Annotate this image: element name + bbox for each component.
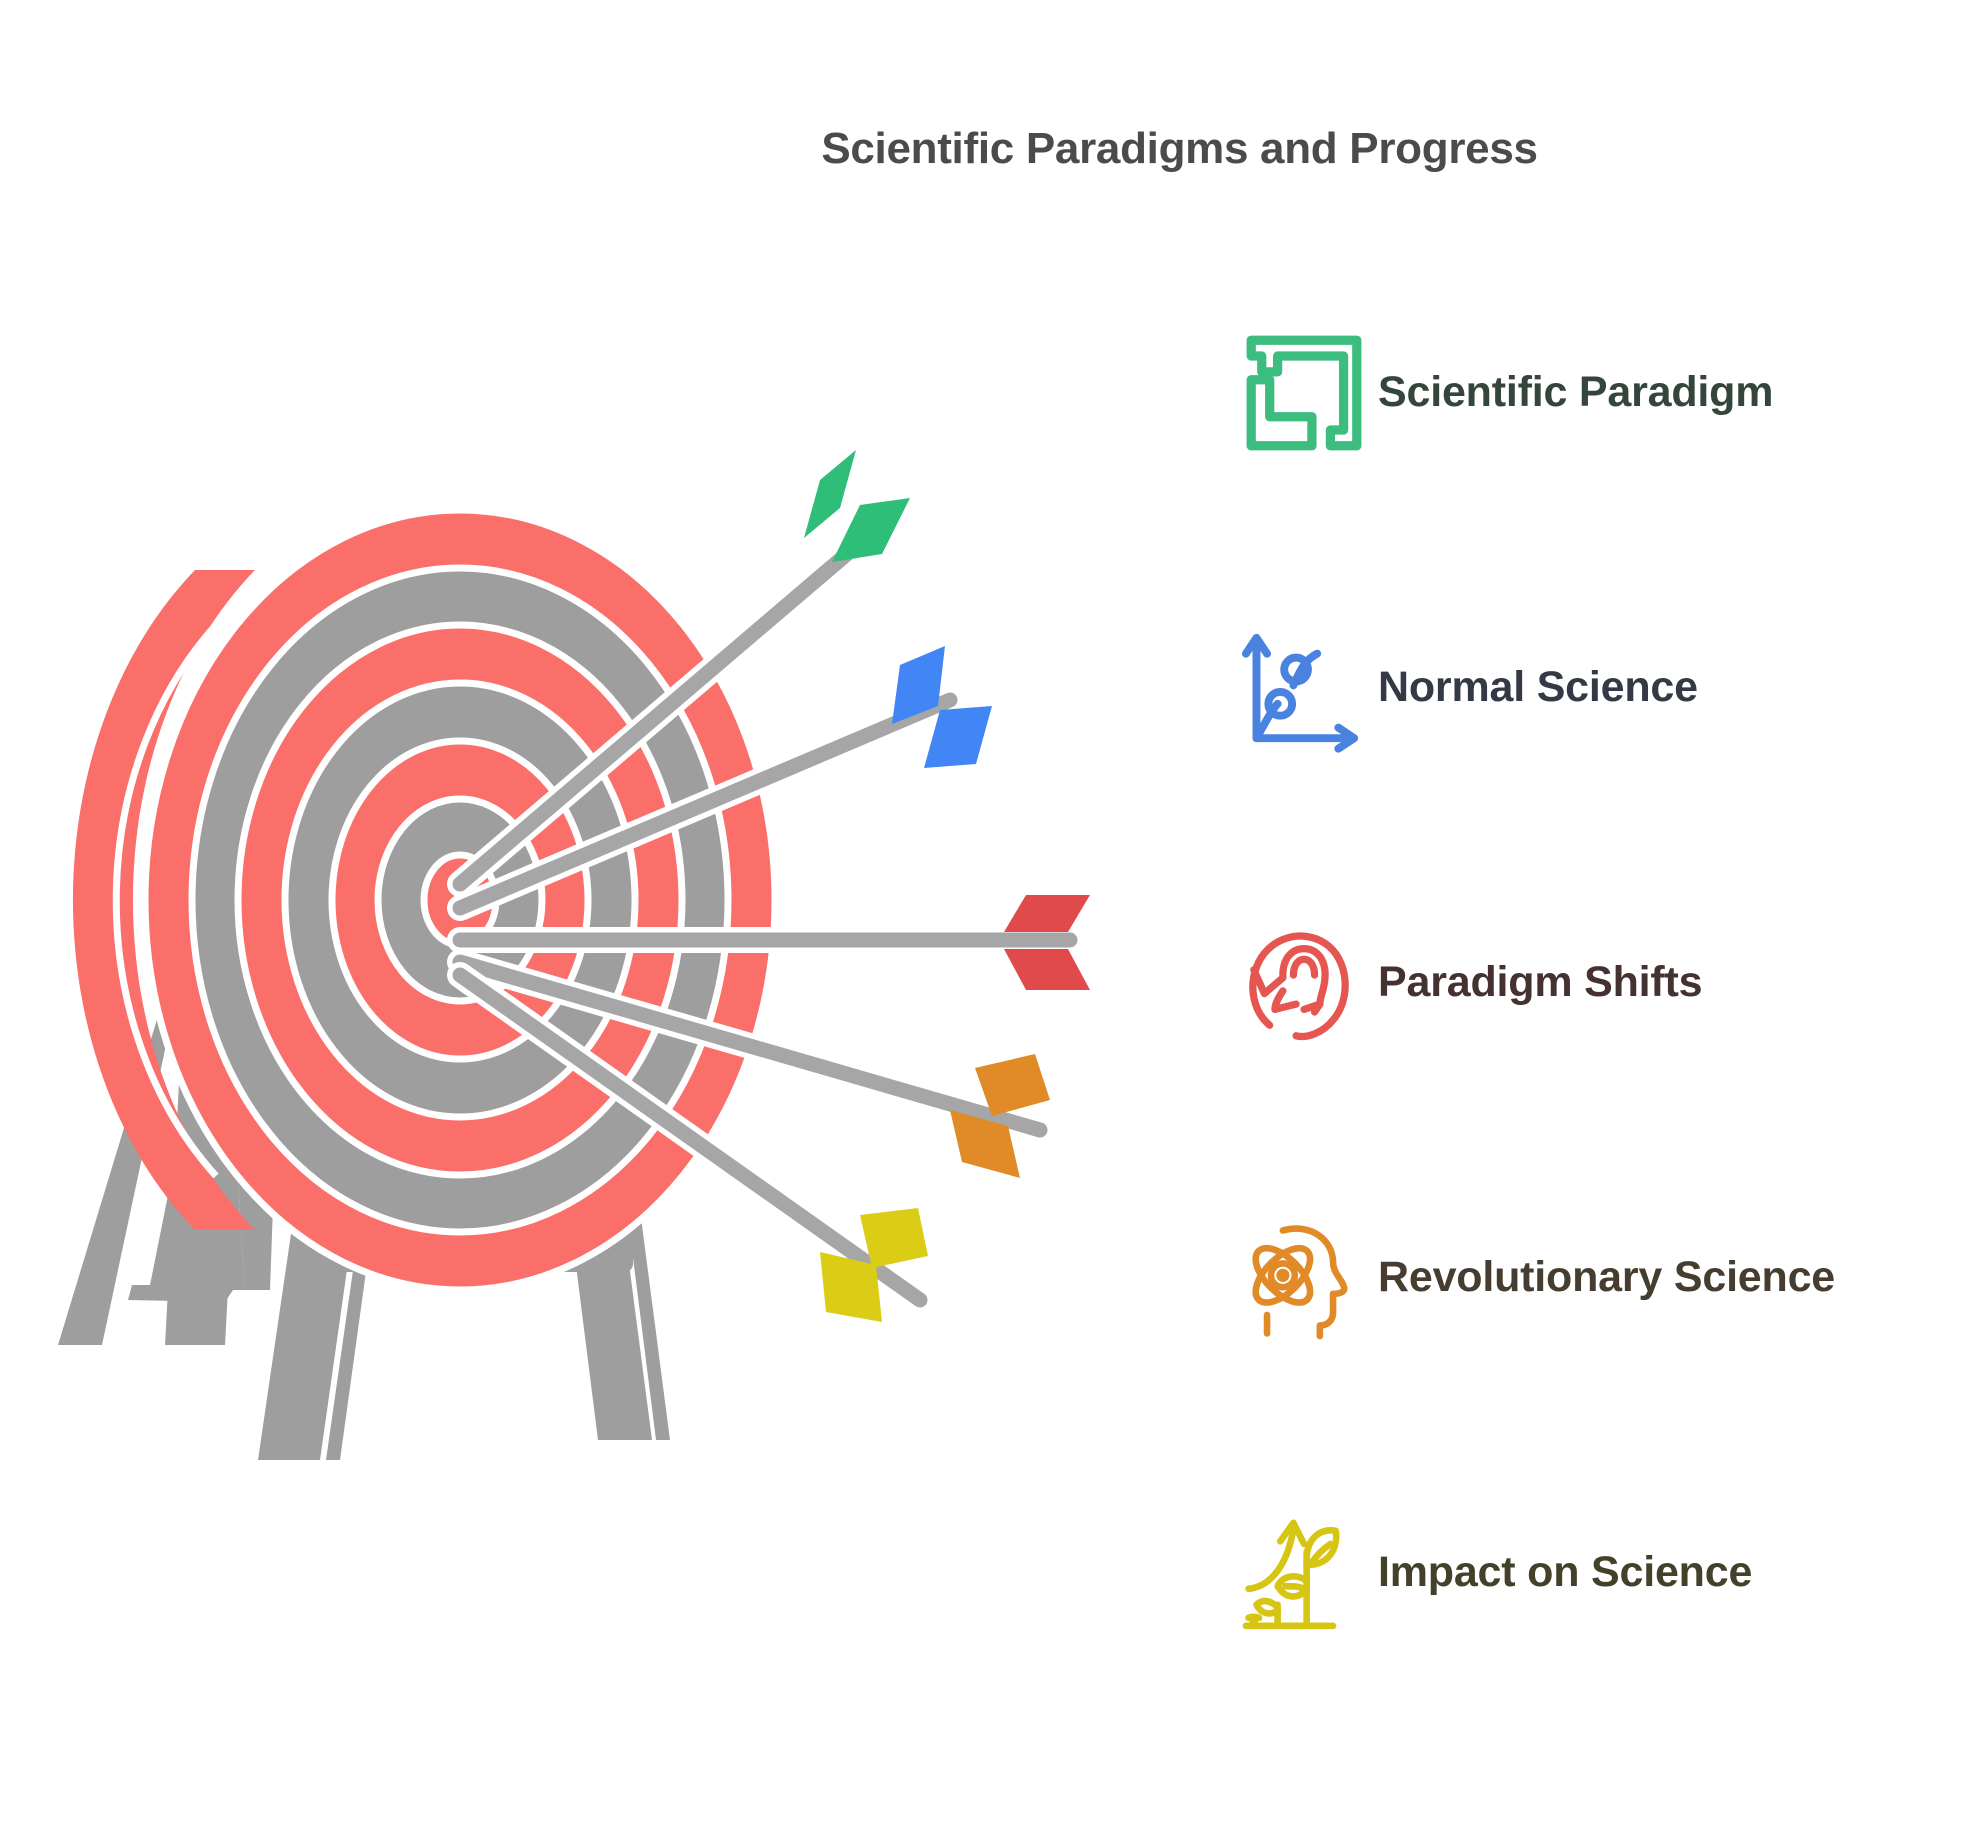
target-board <box>73 510 775 1290</box>
legend-label: Revolutionary Science <box>1378 1253 1835 1302</box>
legend-item-scientific-paradigm[interactable]: Scientific Paradigm <box>1230 245 1950 540</box>
growing-plant-arrow-icon <box>1230 1499 1378 1647</box>
legend-item-normal-science[interactable]: Normal Science <box>1230 540 1950 835</box>
legend-item-paradigm-shifts[interactable]: Paradigm Shifts <box>1230 835 1950 1130</box>
head-atom-icon <box>1230 1204 1378 1352</box>
legend-label: Impact on Science <box>1378 1548 1752 1597</box>
legend-item-revolutionary-science[interactable]: Revolutionary Science <box>1230 1130 1950 1425</box>
line-chart-axes-icon <box>1230 614 1378 762</box>
page-title: Scientific Paradigms and Progress <box>0 124 1969 174</box>
legend-label: Normal Science <box>1378 663 1698 712</box>
legend-list: Scientific Paradigm <box>1230 245 1950 1720</box>
infographic-canvas: Scientific Paradigms and Progress <box>0 0 1969 1835</box>
target-illustration <box>20 450 1230 1750</box>
nested-frames-icon <box>1230 319 1378 467</box>
head-refresh-arrow-icon <box>1230 909 1378 1057</box>
legend-label: Paradigm Shifts <box>1378 958 1702 1007</box>
legend-label: Scientific Paradigm <box>1378 368 1773 417</box>
legend-item-impact-on-science[interactable]: Impact on Science <box>1230 1425 1950 1720</box>
